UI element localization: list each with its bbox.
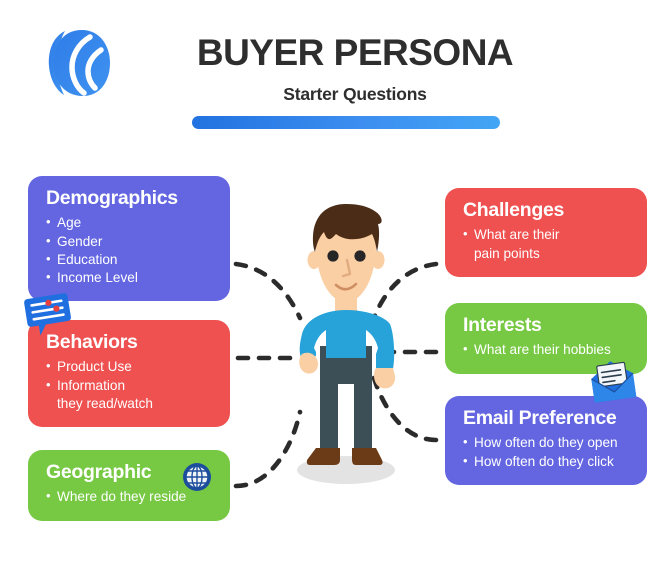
card-geographic[interactable]: Geographic Where do they reside [28, 450, 230, 521]
list-item: Gender [46, 233, 214, 251]
list-item: How often do they open [463, 434, 631, 452]
buyer-persona-character [276, 198, 416, 490]
list-item: Product Use [46, 358, 214, 376]
card-list: How often do they open How often do they… [463, 434, 631, 470]
card-list: Product Use Information they read/watch [46, 358, 214, 413]
card-list: What are their pain points [463, 226, 631, 262]
chat-bubble-icon [24, 292, 72, 337]
list-item: How often do they click [463, 453, 631, 471]
card-email-preference[interactable]: Email Preference How often do they open … [445, 396, 647, 485]
card-title: Interests [463, 315, 631, 336]
card-demographics[interactable]: Demographics Age Gender Education Income… [28, 176, 230, 301]
card-challenges[interactable]: Challenges What are their pain points [445, 188, 647, 277]
list-item: Age [46, 214, 214, 232]
list-item: Information they read/watch [46, 377, 214, 413]
list-item: What are their pain points [463, 226, 631, 262]
envelope-icon [586, 358, 640, 406]
card-title: Geographic [46, 462, 151, 483]
card-list: Age Gender Education Income Level [46, 214, 214, 287]
list-item: Education [46, 251, 214, 269]
list-item: What are their hobbies [463, 341, 631, 359]
card-title: Challenges [463, 200, 631, 221]
globe-icon [182, 462, 212, 492]
card-title: Demographics [46, 188, 214, 209]
infographic-canvas: BUYER PERSONA Starter Questions [0, 0, 672, 561]
list-item: Income Level [46, 269, 214, 287]
card-list: What are their hobbies [463, 341, 631, 359]
card-title: Email Preference [463, 408, 631, 429]
